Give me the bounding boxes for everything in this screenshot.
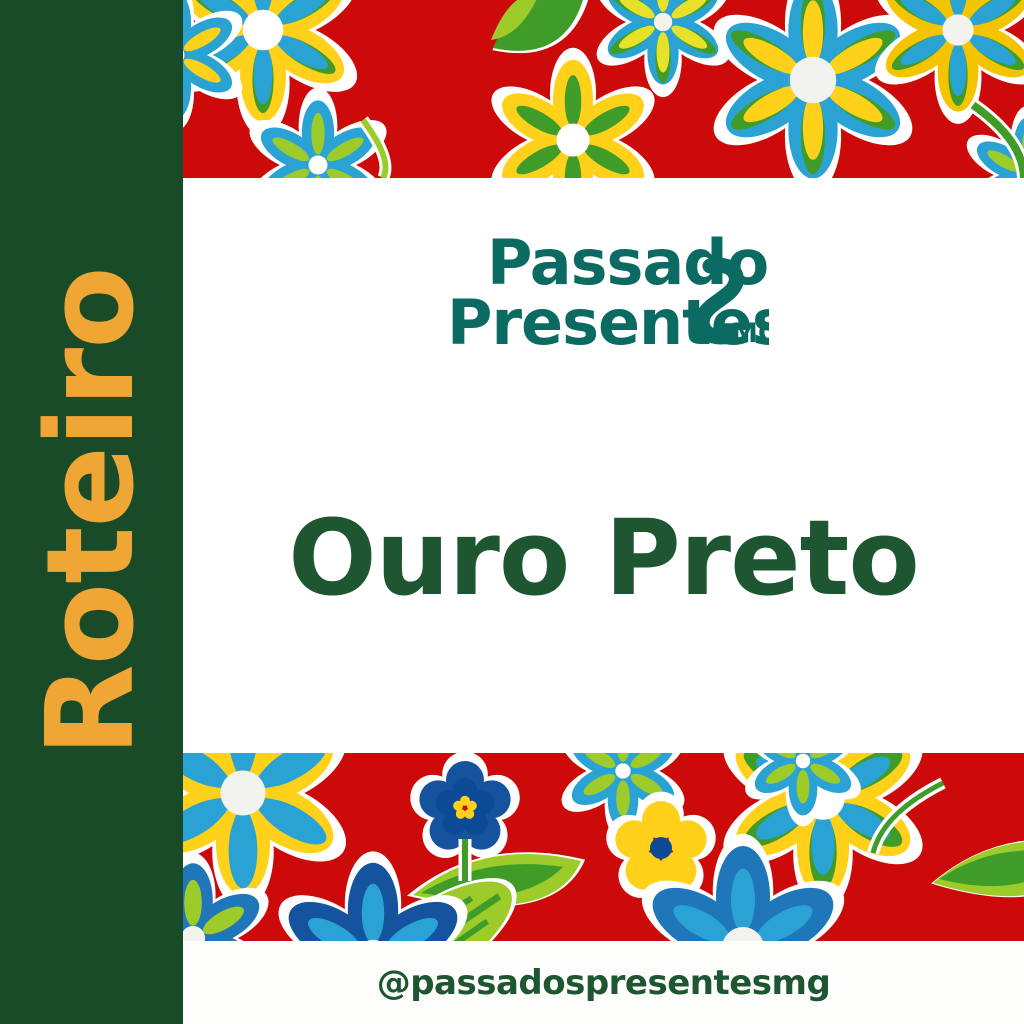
top-floral-band <box>183 0 1024 178</box>
brand-logo: Passados Presentes MG <box>183 214 1024 379</box>
bottom-floral-band <box>183 753 1024 941</box>
sidebar: Roteiro <box>0 0 183 1024</box>
footer: @passadospresentesmg <box>183 941 1024 1024</box>
social-handle: @passadospresentesmg <box>377 963 831 1003</box>
page-title: Ouro Preto <box>183 498 1024 619</box>
bottom-floral-pattern <box>183 753 1024 941</box>
top-floral-pattern <box>183 0 1024 178</box>
brand-logo-mark: Passados Presentes MG <box>439 222 769 372</box>
poster-canvas: Passados Presentes MG Ouro Preto <box>0 0 1024 1024</box>
sidebar-label-roteiro: Roteiro <box>32 267 152 756</box>
logo-suffix-mg: MG <box>731 318 769 349</box>
